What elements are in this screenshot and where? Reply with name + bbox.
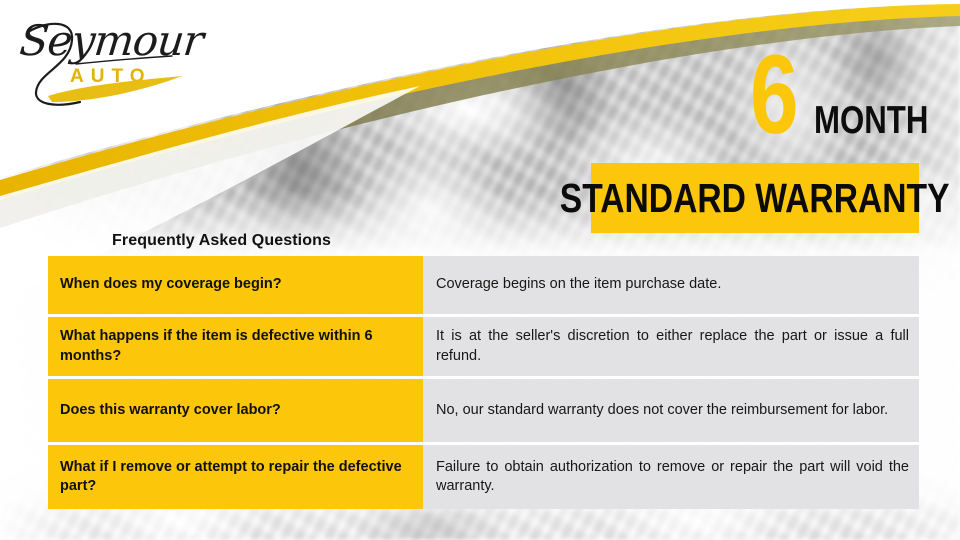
warranty-faq-slide: Seymour AUTO 6 MONTH STANDARD WARRANTY F…	[0, 0, 960, 540]
table-row: When does my coverage begin? Coverage be…	[48, 256, 919, 314]
table-row: What if I remove or attempt to repair th…	[48, 445, 919, 509]
standard-warranty-label: STANDARD WARRANTY	[560, 178, 950, 219]
table-row: What happens if the item is defective wi…	[48, 317, 919, 376]
seymour-auto-logo: Seymour AUTO	[14, 14, 194, 114]
warranty-duration-badge: 6 MONTH	[735, 53, 930, 158]
faq-question-cell: Does this warranty cover labor?	[48, 379, 418, 442]
standard-warranty-band: STANDARD WARRANTY	[591, 163, 919, 233]
faq-answer-cell: Failure to obtain authorization to remov…	[418, 445, 919, 509]
logo-swash-icon	[14, 14, 194, 114]
faq-question-text: When does my coverage begin?	[60, 275, 282, 294]
faq-answer-text: Failure to obtain authorization to remov…	[436, 458, 909, 497]
faq-answer-cell: No, our standard warranty does not cover…	[418, 379, 919, 442]
faq-question-cell: When does my coverage begin?	[48, 256, 418, 314]
faq-question-text: What if I remove or attempt to repair th…	[60, 458, 406, 496]
faq-question-text: Does this warranty cover labor?	[60, 401, 281, 420]
faq-question-text: What happens if the item is defective wi…	[60, 327, 406, 365]
faq-question-cell: What if I remove or attempt to repair th…	[48, 445, 418, 509]
faq-answer-cell: Coverage begins on the item purchase dat…	[418, 256, 919, 314]
faq-answer-text: No, our standard warranty does not cover…	[436, 401, 909, 420]
faq-answer-text: Coverage begins on the item purchase dat…	[436, 275, 909, 294]
faq-table: When does my coverage begin? Coverage be…	[48, 256, 919, 509]
duration-number: 6	[750, 39, 796, 151]
table-row: Does this warranty cover labor? No, our …	[48, 379, 919, 442]
faq-answer-text: It is at the seller's discretion to eith…	[436, 327, 909, 366]
faq-heading: Frequently Asked Questions	[112, 232, 331, 250]
duration-unit: MONTH	[814, 101, 928, 140]
faq-question-cell: What happens if the item is defective wi…	[48, 317, 418, 376]
faq-answer-cell: It is at the seller's discretion to eith…	[418, 317, 919, 376]
